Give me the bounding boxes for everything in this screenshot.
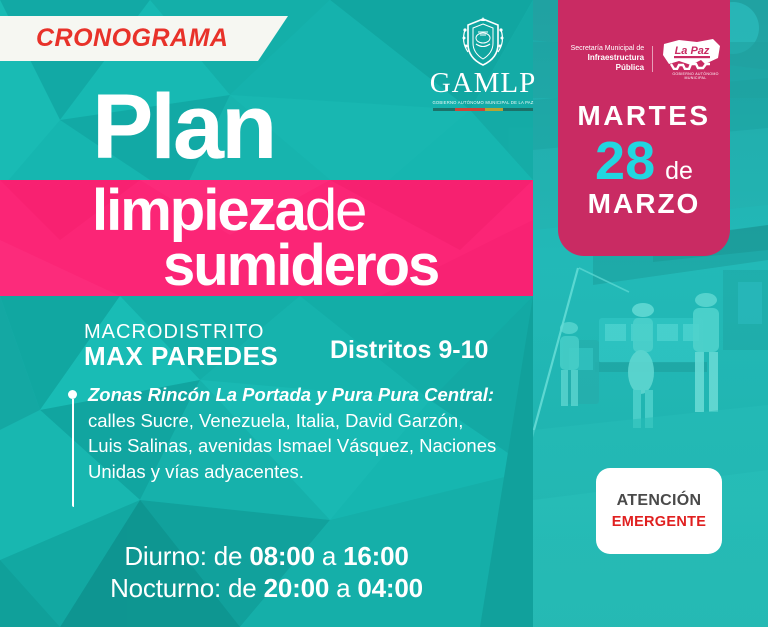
attention-badge: ATENCIÓN EMERGENTE <box>596 468 722 554</box>
schedule-night-end: 04:00 <box>357 573 423 603</box>
schedule-day-label: Diurno: de <box>124 541 249 571</box>
bullet-dot-icon <box>68 390 77 399</box>
date-day-row: 28 de <box>558 134 730 188</box>
macrodistrito-block: MACRODISTRITO MAX PAREDES <box>84 322 278 370</box>
bullet-marker-icon <box>68 390 77 507</box>
schedule-night-sep: a <box>329 573 357 603</box>
logo-divider <box>652 46 653 72</box>
gamlp-color-bar <box>433 108 533 111</box>
gamlp-wordmark: GAMLP <box>424 69 542 98</box>
cronograma-label: CRONOGRAMA <box>36 24 229 53</box>
date-weekday: MARTES <box>558 102 730 130</box>
date-day-number: 28 <box>595 134 655 188</box>
macrodistrito-name: MAX PAREDES <box>84 343 278 370</box>
districts-label: Distritos 9-10 <box>330 336 488 365</box>
schedule-night-label: Nocturno: de <box>110 573 264 603</box>
macrodistrito-label: MACRODISTRITO <box>84 322 278 343</box>
coat-of-arms-shield-icon <box>456 16 510 68</box>
date-panel: Secretaría Municipal de Infraestructura … <box>558 0 730 256</box>
secretaria-line1: Secretaría Municipal de <box>558 45 644 54</box>
zones-description: Zonas Rincón La Portada y Pura Pura Cent… <box>88 382 498 484</box>
secretaria-text: Secretaría Municipal de Infraestructura … <box>558 45 644 74</box>
poster-canvas: CRONOGRAMA GAMLP GOBIERNO AUTÓNOMO MUNIC… <box>0 0 768 627</box>
gamlp-logo: GAMLP GOBIERNO AUTÓNOMO MUNICIPAL DE LA … <box>424 16 542 111</box>
secretaria-lockup: Secretaría Municipal de Infraestructura … <box>558 0 730 80</box>
zones-body: calles Sucre, Venezuela, Italia, David G… <box>88 410 496 482</box>
schedule-day-start: 08:00 <box>249 541 315 571</box>
schedule-night-row: Nocturno: de 20:00 a 04:00 <box>0 572 533 604</box>
schedule-day-sep: a <box>315 541 343 571</box>
date-month: MARZO <box>558 190 730 218</box>
bullet-stem-icon <box>72 399 74 507</box>
la-paz-brand-icon: La Paz <box>661 38 723 70</box>
cronograma-banner: CRONOGRAMA <box>0 16 288 61</box>
title-limpieza: limpiezade <box>92 182 365 240</box>
schedule-day-row: Diurno: de 08:00 a 16:00 <box>0 540 533 572</box>
schedule-day-end: 16:00 <box>343 541 409 571</box>
attention-title: ATENCIÓN <box>617 492 702 510</box>
gamlp-subtitle: GOBIERNO AUTÓNOMO MUNICIPAL DE LA PAZ <box>424 100 542 105</box>
schedule-block: Diurno: de 08:00 a 16:00 Nocturno: de 20… <box>0 540 533 604</box>
title-sumideros: sumideros <box>163 237 438 295</box>
lapaz-subtitle: GOBIERNO AUTÓNOMO MUNICIPAL <box>661 72 730 80</box>
svg-text:La Paz: La Paz <box>675 45 710 57</box>
zones-lead: Zonas Rincón La Portada y Pura Pura Cent… <box>88 384 494 405</box>
schedule-night-start: 20:00 <box>264 573 330 603</box>
date-connector: de <box>665 159 693 184</box>
secretaria-line2: Infraestructura Pública <box>558 53 644 73</box>
attention-subtitle: EMERGENTE <box>612 514 707 530</box>
lapaz-logo: La Paz GOBIERNO AUTÓNOMO MUNICIPAL <box>661 38 730 80</box>
title-plan: Plan <box>92 84 274 171</box>
